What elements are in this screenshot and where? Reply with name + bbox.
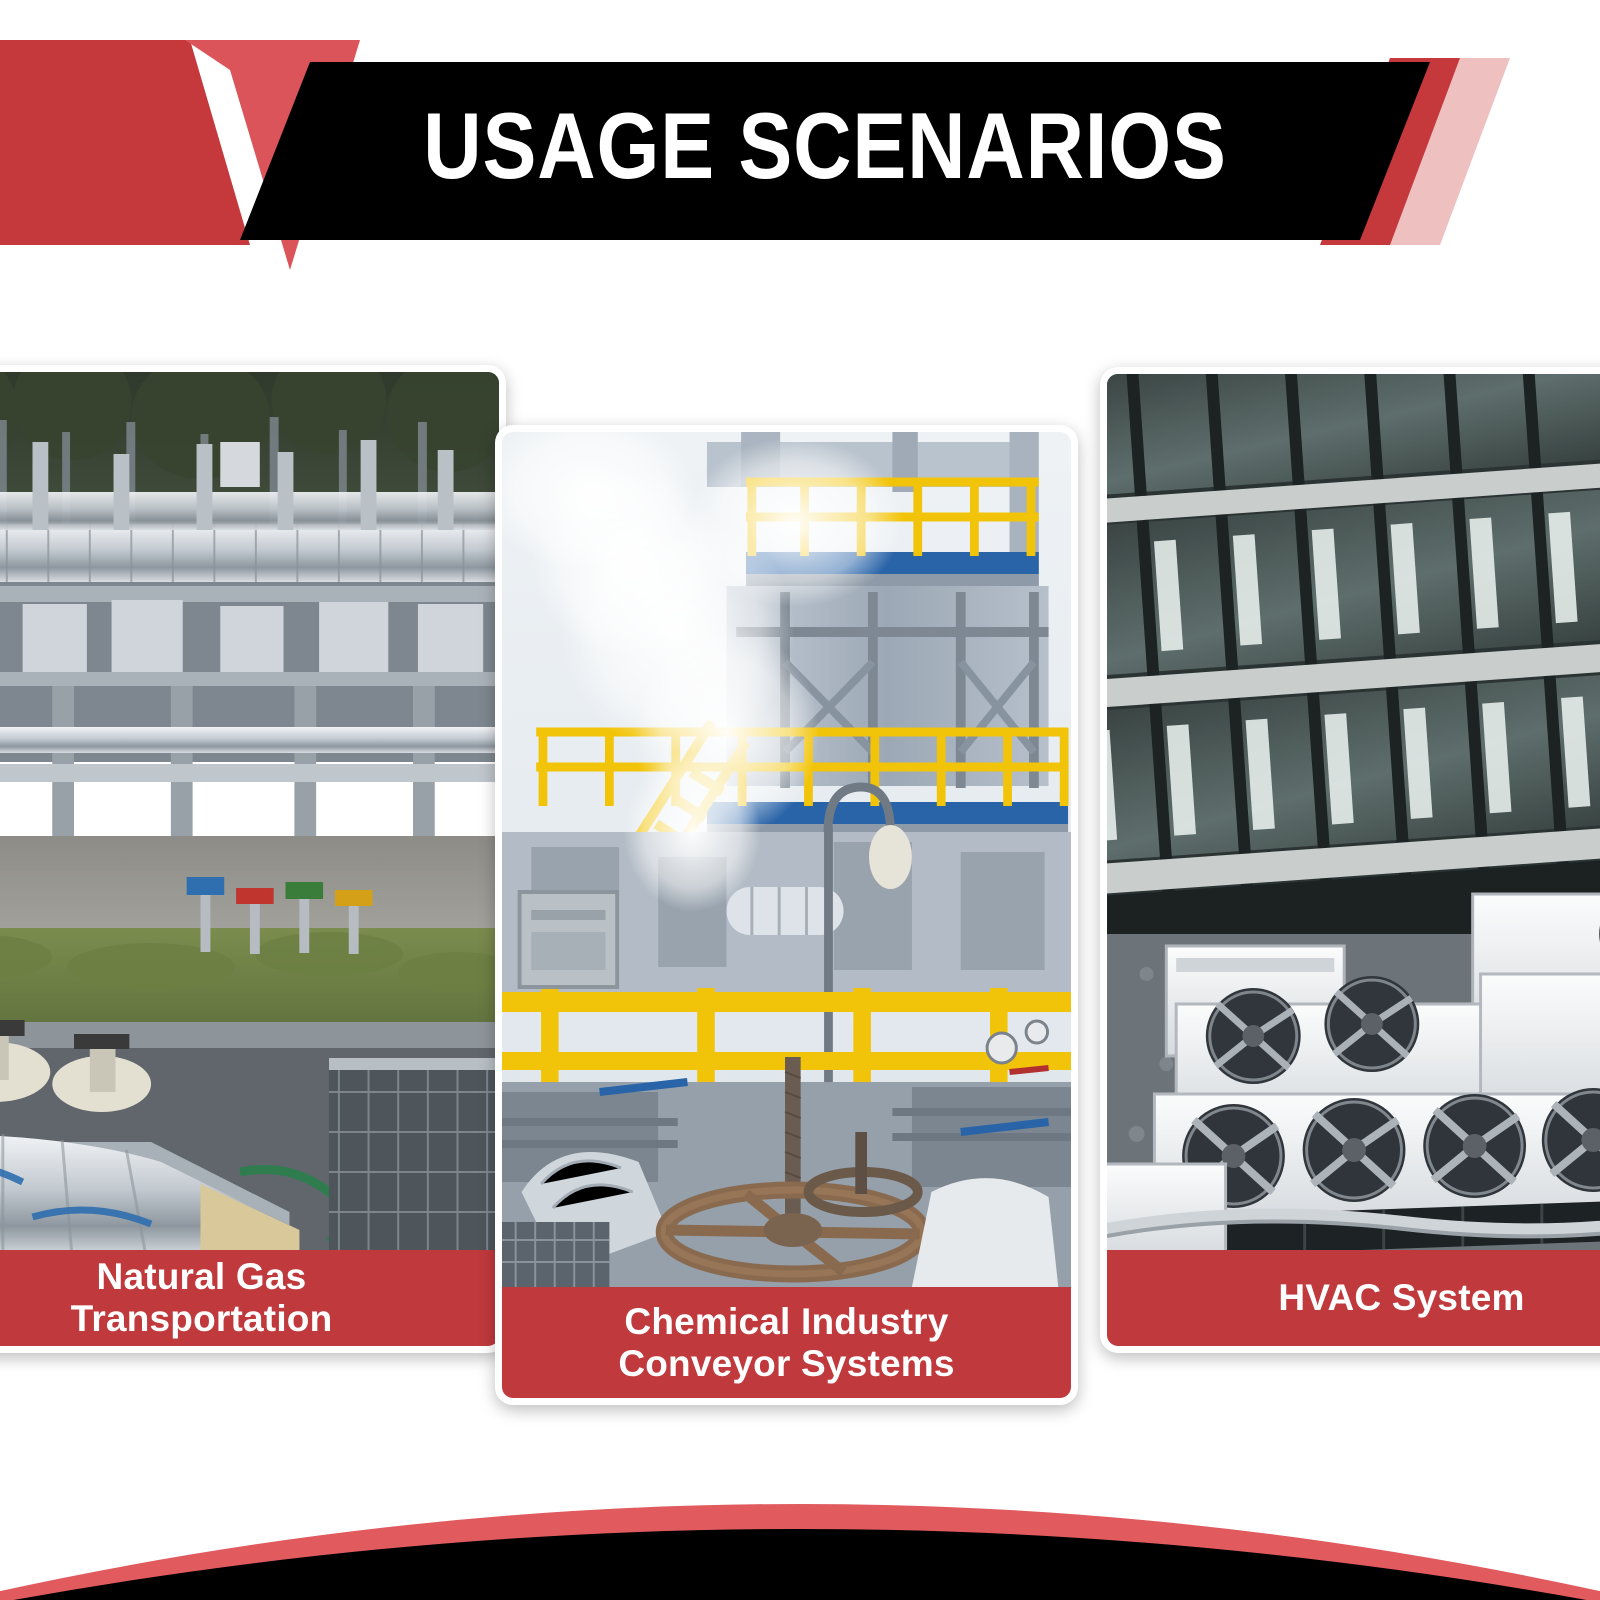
header-left-red-shape	[0, 40, 250, 245]
bottom-arc-red	[0, 1504, 1600, 1600]
header-left-light-triangle	[185, 40, 360, 270]
caption-text: HVAC System	[1278, 1277, 1524, 1319]
scenario-card-natural-gas[interactable]: Natural Gas Transportation	[0, 365, 506, 1353]
usage-scenarios-slide: USAGE SCENARIOS	[0, 0, 1600, 1600]
card-caption-natural-gas: Natural Gas Transportation	[0, 1250, 499, 1346]
card-caption-hvac-system: HVAC System	[1107, 1250, 1600, 1346]
bottom-arc-black	[0, 1529, 1600, 1600]
bottom-arc-decoration	[0, 1400, 1600, 1600]
hvac-system-photo	[1107, 374, 1600, 1259]
caption-line-1: Natural Gas	[97, 1256, 307, 1297]
header-right-pink-stripe	[1385, 58, 1510, 245]
caption-line-2: Conveyor Systems	[618, 1343, 954, 1384]
header-banner: USAGE SCENARIOS	[0, 0, 1600, 300]
header-banner-shapes	[0, 0, 1600, 300]
header-right-red-stripe	[1320, 58, 1460, 245]
caption-line-2: Transportation	[71, 1298, 333, 1339]
caption-line-1: Chemical Industry	[624, 1301, 948, 1342]
chemical-industry-photo	[502, 432, 1071, 1287]
scenario-card-chemical-industry[interactable]: Chemical Industry Conveyor Systems	[495, 425, 1078, 1405]
caption-text: Chemical Industry Conveyor Systems	[618, 1301, 954, 1385]
caption-text: Natural Gas Transportation	[71, 1256, 333, 1340]
page-title: USAGE SCENARIOS	[438, 88, 1212, 203]
card-caption-chemical-industry: Chemical Industry Conveyor Systems	[502, 1287, 1071, 1398]
scenario-card-hvac-system[interactable]: HVAC System	[1100, 367, 1600, 1353]
natural-gas-photo	[0, 372, 499, 1257]
header-black-bar	[240, 62, 1430, 240]
